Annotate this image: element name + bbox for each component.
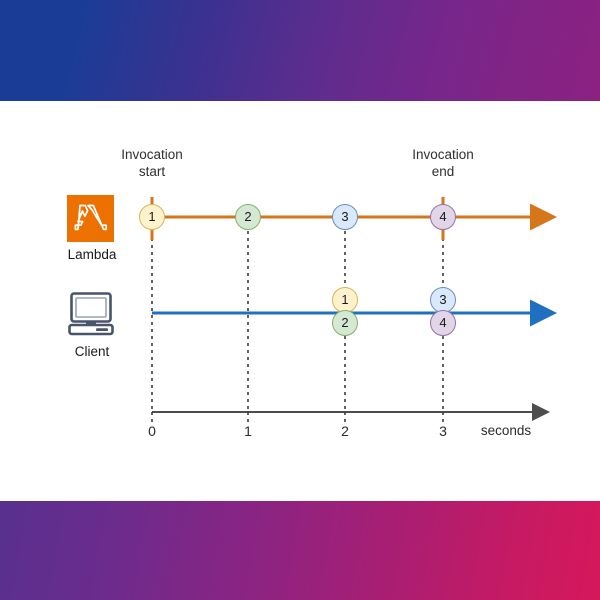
lambda-marker-4[interactable]: 4	[430, 204, 456, 230]
time-guides	[152, 217, 443, 413]
invocation-end-annotation: Invocation end	[383, 146, 503, 180]
axis-title-seconds: seconds	[470, 423, 542, 438]
diagram-page: Invocation start Invocation end Lambda	[0, 0, 600, 600]
client-marker-1-label: 1	[341, 292, 348, 307]
lambda-marker-4-label: 4	[439, 209, 446, 224]
lambda-marker-3-label: 3	[341, 209, 348, 224]
client-lane-label: Client	[45, 344, 139, 359]
invocation-start-line2: start	[92, 163, 212, 180]
axis-tick-label-0: 0	[132, 423, 172, 439]
client-marker-4-label: 4	[439, 315, 446, 330]
timeline-diagram: Invocation start Invocation end Lambda	[0, 101, 600, 501]
client-marker-4[interactable]: 4	[430, 310, 456, 336]
client-marker-2[interactable]: 2	[332, 310, 358, 336]
client-marker-2-label: 2	[341, 315, 348, 330]
client-computer-icon	[66, 291, 116, 337]
invocation-end-line1: Invocation	[383, 146, 503, 163]
invocation-end-line2: end	[383, 163, 503, 180]
client-marker-3-label: 3	[439, 292, 446, 307]
lambda-marker-2-label: 2	[244, 209, 251, 224]
invocation-start-annotation: Invocation start	[92, 146, 212, 180]
aws-lambda-icon	[67, 195, 114, 242]
bottom-gradient-banner	[0, 501, 600, 600]
lambda-marker-1-label: 1	[148, 209, 155, 224]
invocation-start-line1: Invocation	[92, 146, 212, 163]
lambda-marker-3[interactable]: 3	[332, 204, 358, 230]
top-gradient-banner	[0, 0, 600, 101]
axis-tick-label-2: 2	[325, 423, 365, 439]
lambda-marker-1[interactable]: 1	[139, 204, 165, 230]
axis-tick-stubs	[152, 412, 443, 423]
lambda-marker-2[interactable]: 2	[235, 204, 261, 230]
axis-tick-label-1: 1	[228, 423, 268, 439]
lambda-lane-label: Lambda	[45, 247, 139, 262]
axis-tick-label-3: 3	[423, 423, 463, 439]
